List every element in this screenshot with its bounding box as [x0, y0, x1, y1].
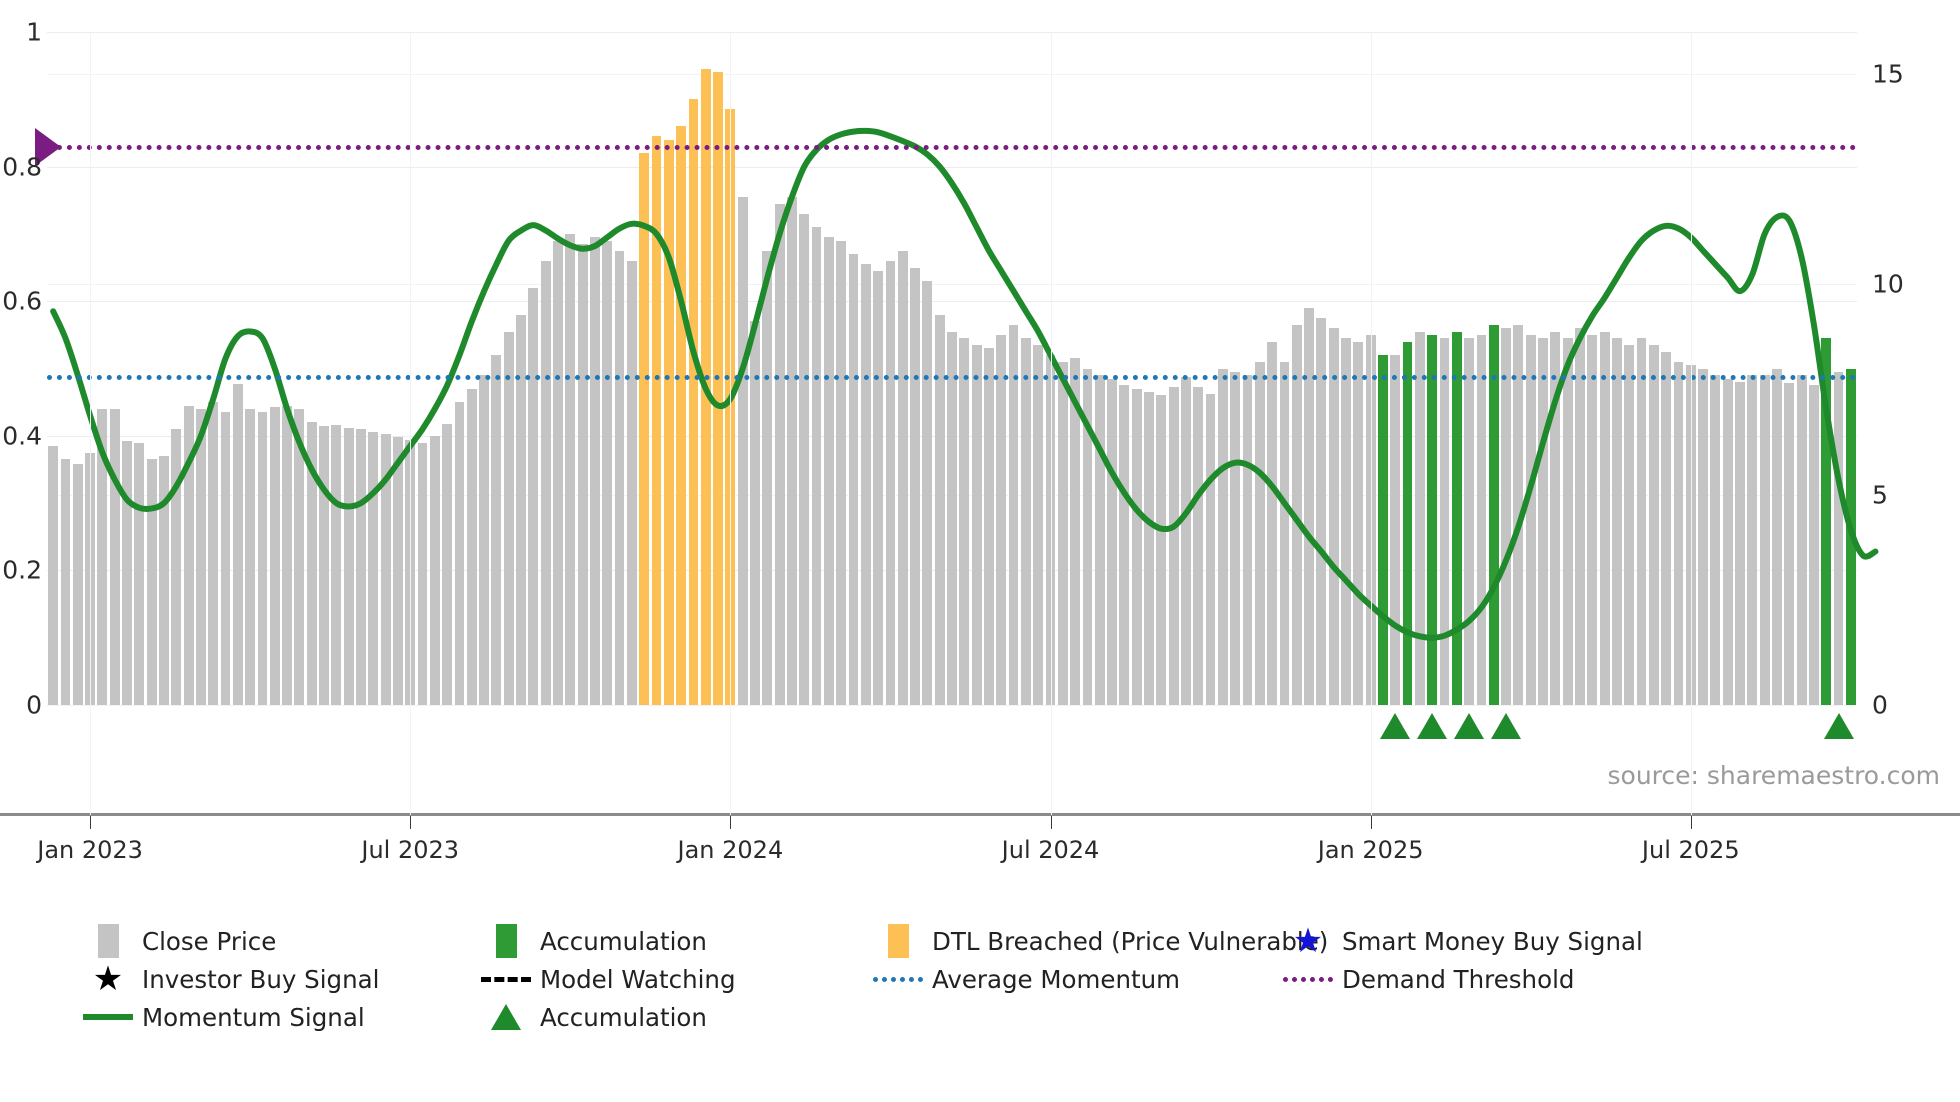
x-tick-mark [1691, 816, 1692, 829]
legend-label: Momentum Signal [142, 1003, 365, 1032]
accumulation-triangle-marker [1824, 713, 1854, 739]
y-tick-left-0.8: 0.8 [2, 152, 42, 181]
x-tick-label-jul-2023: Jul 2023 [361, 836, 459, 864]
y-tick-left-0.6: 0.6 [2, 287, 42, 316]
dashed-line-icon [478, 977, 534, 982]
y-tick-right-15: 15 [1872, 60, 1904, 89]
legend-item-average-momentum[interactable]: Average Momentum [870, 960, 1180, 998]
x-axis-line [0, 813, 1960, 816]
legend-label: Smart Money Buy Signal [1342, 927, 1643, 956]
x-tick-label-jul-2025: Jul 2025 [1642, 836, 1740, 864]
x-tick-mark [730, 816, 731, 829]
x-gridline-lower [410, 705, 411, 815]
x-gridline [1371, 32, 1372, 705]
legend-label: Accumulation [540, 927, 707, 956]
legend-item-momentum-signal[interactable]: Momentum Signal [80, 998, 365, 1036]
x-tick-label-jan-2025: Jan 2025 [1318, 836, 1424, 864]
chart-root: 00.20.40.60.81 051015 Jan 2023Jul 2023Ja… [0, 0, 1960, 1102]
legend-item-accumulation-tri[interactable]: Accumulation [478, 998, 707, 1036]
legend-row: Close PriceAccumulationDTL Breached (Pri… [80, 922, 1940, 960]
legend-item-close-price[interactable]: Close Price [80, 922, 276, 960]
dotted-line-icon [870, 977, 926, 982]
x-tick-mark [90, 816, 91, 829]
triangle-icon [478, 1004, 534, 1030]
y-tick-left-0.2: 0.2 [2, 556, 42, 585]
demand-threshold-line [47, 145, 1857, 150]
legend-label: Investor Buy Signal [142, 965, 379, 994]
y-tick-right-0: 0 [1872, 691, 1888, 720]
legend-label: Average Momentum [932, 965, 1180, 994]
x-gridline-lower [90, 705, 91, 815]
accumulation-marker-area [47, 705, 1857, 815]
x-tick-mark [410, 816, 411, 829]
x-tick-label-jan-2024: Jan 2024 [678, 836, 784, 864]
legend-label: Close Price [142, 927, 276, 956]
x-tick-label-jan-2023: Jan 2023 [37, 836, 143, 864]
dtl-breached-swatch-icon [870, 924, 926, 958]
legend-row: ★Investor Buy SignalModel WatchingAverag… [80, 960, 1940, 998]
accumulation-triangle-marker [1454, 713, 1484, 739]
x-gridline [410, 32, 411, 705]
x-tick-mark [1371, 816, 1372, 829]
close-price-swatch-icon [80, 924, 136, 958]
legend-item-accumulation-bar[interactable]: Accumulation [478, 922, 707, 960]
momentum-signal-line [47, 32, 1857, 705]
chart-legend: Close PriceAccumulationDTL Breached (Pri… [80, 922, 1940, 1036]
x-tick-mark [1051, 816, 1052, 829]
x-gridline [1691, 32, 1692, 705]
legend-row: Momentum SignalAccumulation [80, 998, 1940, 1036]
legend-label: Accumulation [540, 1003, 707, 1032]
legend-item-model-watching[interactable]: Model Watching [478, 960, 736, 998]
accumulation-triangle-marker [1417, 713, 1447, 739]
y-tick-right-5: 5 [1872, 480, 1888, 509]
star-icon: ★ [80, 964, 136, 994]
legend-label: Model Watching [540, 965, 736, 994]
accumulation-bar-swatch-icon [478, 924, 534, 958]
y-tick-left-1: 1 [26, 18, 42, 47]
average-momentum-line [47, 375, 1857, 380]
x-gridline [1051, 32, 1052, 705]
source-attribution: source: sharemaestro.com [1608, 761, 1941, 790]
x-gridline-lower [730, 705, 731, 815]
legend-item-demand-threshold[interactable]: Demand Threshold [1280, 960, 1574, 998]
legend-item-dtl-breached[interactable]: DTL Breached (Price Vulnerable) [870, 922, 1328, 960]
accumulation-triangle-marker [1491, 713, 1521, 739]
x-tick-label-jul-2024: Jul 2024 [1002, 836, 1100, 864]
dotted-line-icon [1280, 977, 1336, 982]
legend-item-investor-buy[interactable]: ★Investor Buy Signal [80, 960, 379, 998]
y-tick-right-10: 10 [1872, 270, 1904, 299]
x-gridline-lower [1051, 705, 1052, 815]
legend-label: DTL Breached (Price Vulnerable) [932, 927, 1328, 956]
x-gridline [730, 32, 731, 705]
legend-item-smart-money-buy[interactable]: ★Smart Money Buy Signal [1280, 922, 1643, 960]
legend-label: Demand Threshold [1342, 965, 1574, 994]
x-gridline-lower [1371, 705, 1372, 815]
solid-line-icon [80, 1014, 136, 1020]
x-gridline [90, 32, 91, 705]
y-tick-left-0: 0 [26, 691, 42, 720]
star-icon: ★ [1280, 926, 1336, 956]
plot-area [47, 32, 1857, 705]
accumulation-triangle-marker [1380, 713, 1410, 739]
momentum-signal-path [53, 131, 1875, 638]
x-gridline-lower [1691, 705, 1692, 815]
y-tick-left-0.4: 0.4 [2, 421, 42, 450]
